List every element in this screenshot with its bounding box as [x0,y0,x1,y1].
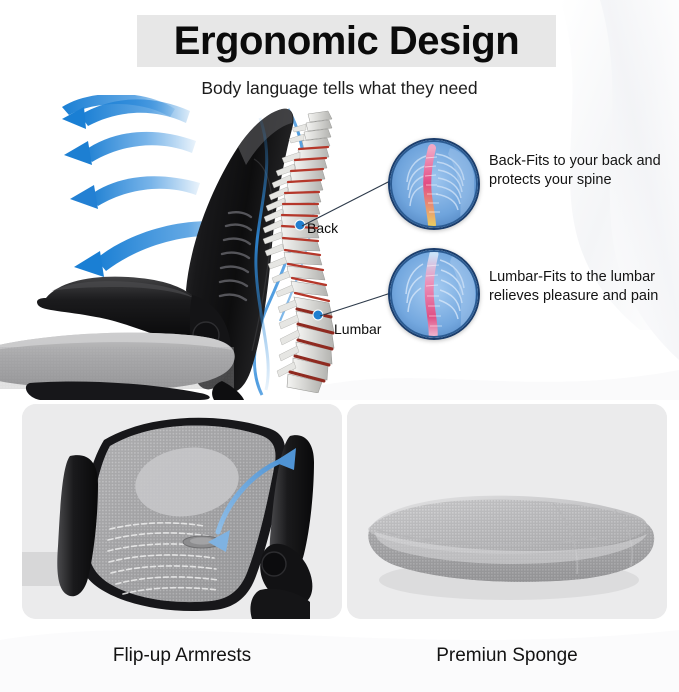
leader-line-lumbar [320,292,394,316]
panel-flip-up-armrests [22,404,342,619]
annotation-back: Back-Fits to your back and protects your… [489,152,679,190]
page-subtitle: Body language tells what they need [0,78,679,99]
spine-xray-inset-lumbar [388,248,480,340]
caption-premium-sponge: Premiun Sponge [347,645,667,667]
leader-line-back [302,178,396,226]
spine-label-back: Back [307,220,338,236]
caption-flip-up-armrests: Flip-up Armrests [22,645,342,667]
panel-premium-sponge [347,404,667,619]
spine-label-lumbar: Lumbar [334,321,381,337]
spine-xray-inset-back [388,138,480,230]
annotation-lumbar: Lumbar-Fits to the lumbar relieves pleas… [489,268,679,306]
page-title: Ergonomic Design [137,14,556,68]
infographic-canvas: Ergonomic Design Body language tells wha… [0,0,679,692]
